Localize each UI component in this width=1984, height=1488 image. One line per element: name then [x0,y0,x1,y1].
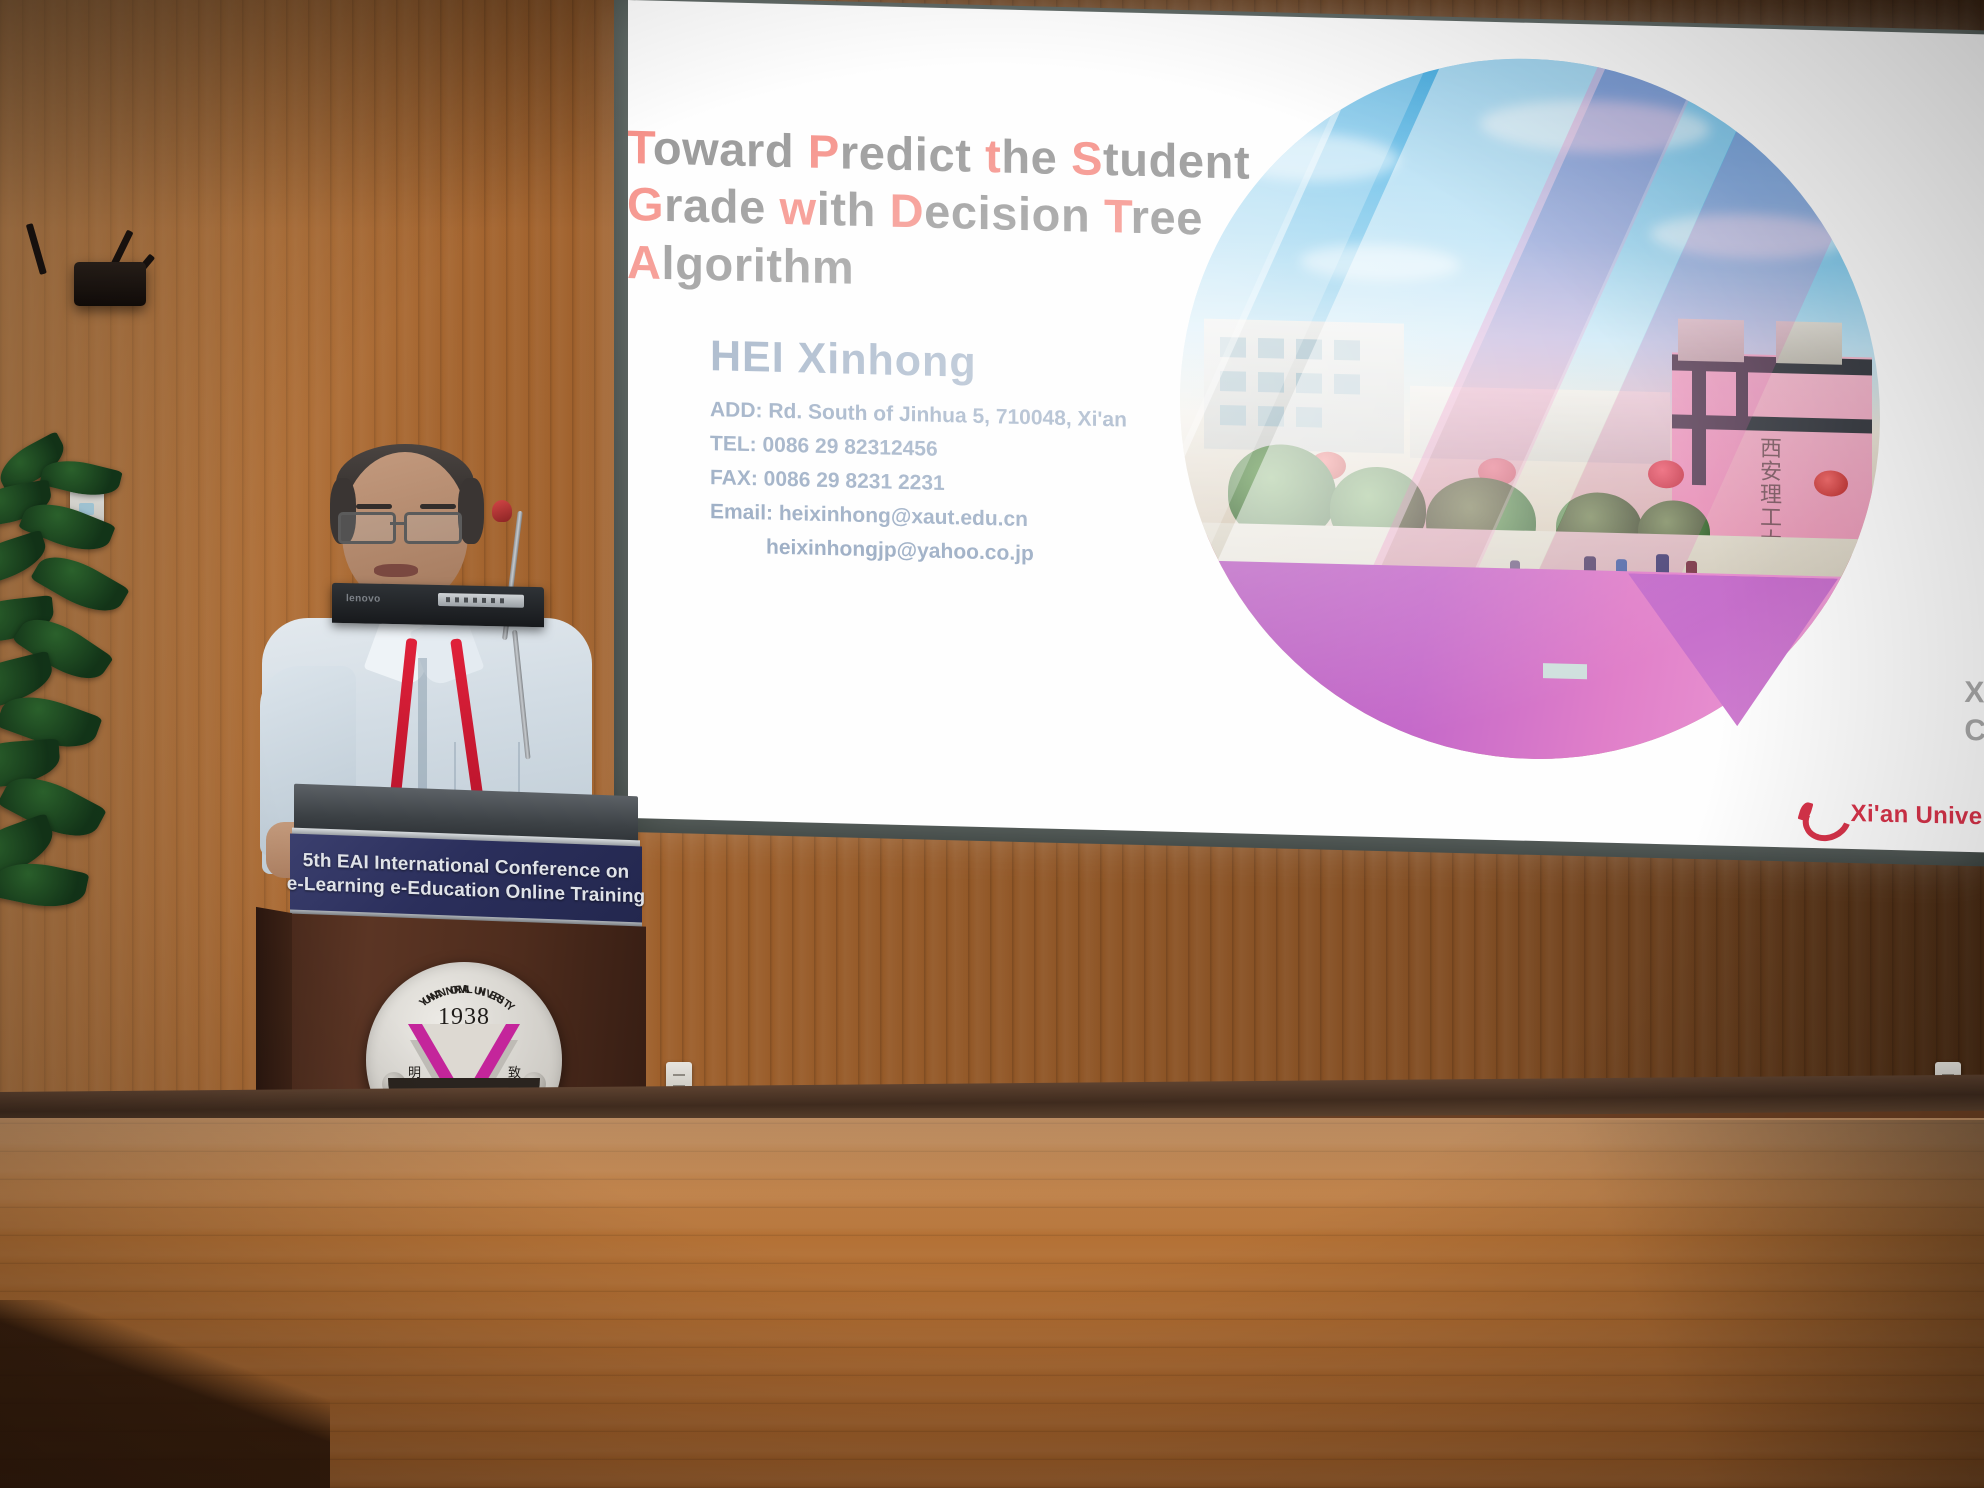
presenter-name: HEI Xinhong [710,332,1127,392]
xian-university-logo-text: Xi'an Univer [1851,800,1984,832]
potted-plant [0,446,136,916]
glasses-icon [338,512,474,538]
photo-scene: 西安理工大学 [0,0,1984,1488]
floor-shadow-left [0,1300,330,1488]
cut-off-corner-letters: X C [1964,674,1984,750]
xian-university-logo: Xi'an Univer [1798,796,1984,835]
presenter-contact-block: HEI Xinhong ADD: Rd. South of Jinhua 5, … [710,332,1127,574]
laptop-hinge-strip [438,593,524,608]
projection-screen: 西安理工大学 [628,0,1984,864]
wifi-router [74,262,146,306]
laptop-brand-label: lenovo [346,593,381,605]
emblem-arc-char: L [466,984,473,996]
screen-surface: 西安理工大学 [628,0,1984,852]
eyebrow [420,504,456,509]
microphone-head-icon [492,500,512,522]
laptop[interactable]: lenovo [332,583,544,627]
slide-title: Toward Predict the StudentGrade with Dec… [628,118,1407,310]
teal-accent-chip [1543,663,1587,679]
mouth [374,564,418,577]
floor-shadow-right [1524,1120,1984,1488]
eyebrow [356,504,392,509]
swoosh-icon [1798,796,1842,831]
